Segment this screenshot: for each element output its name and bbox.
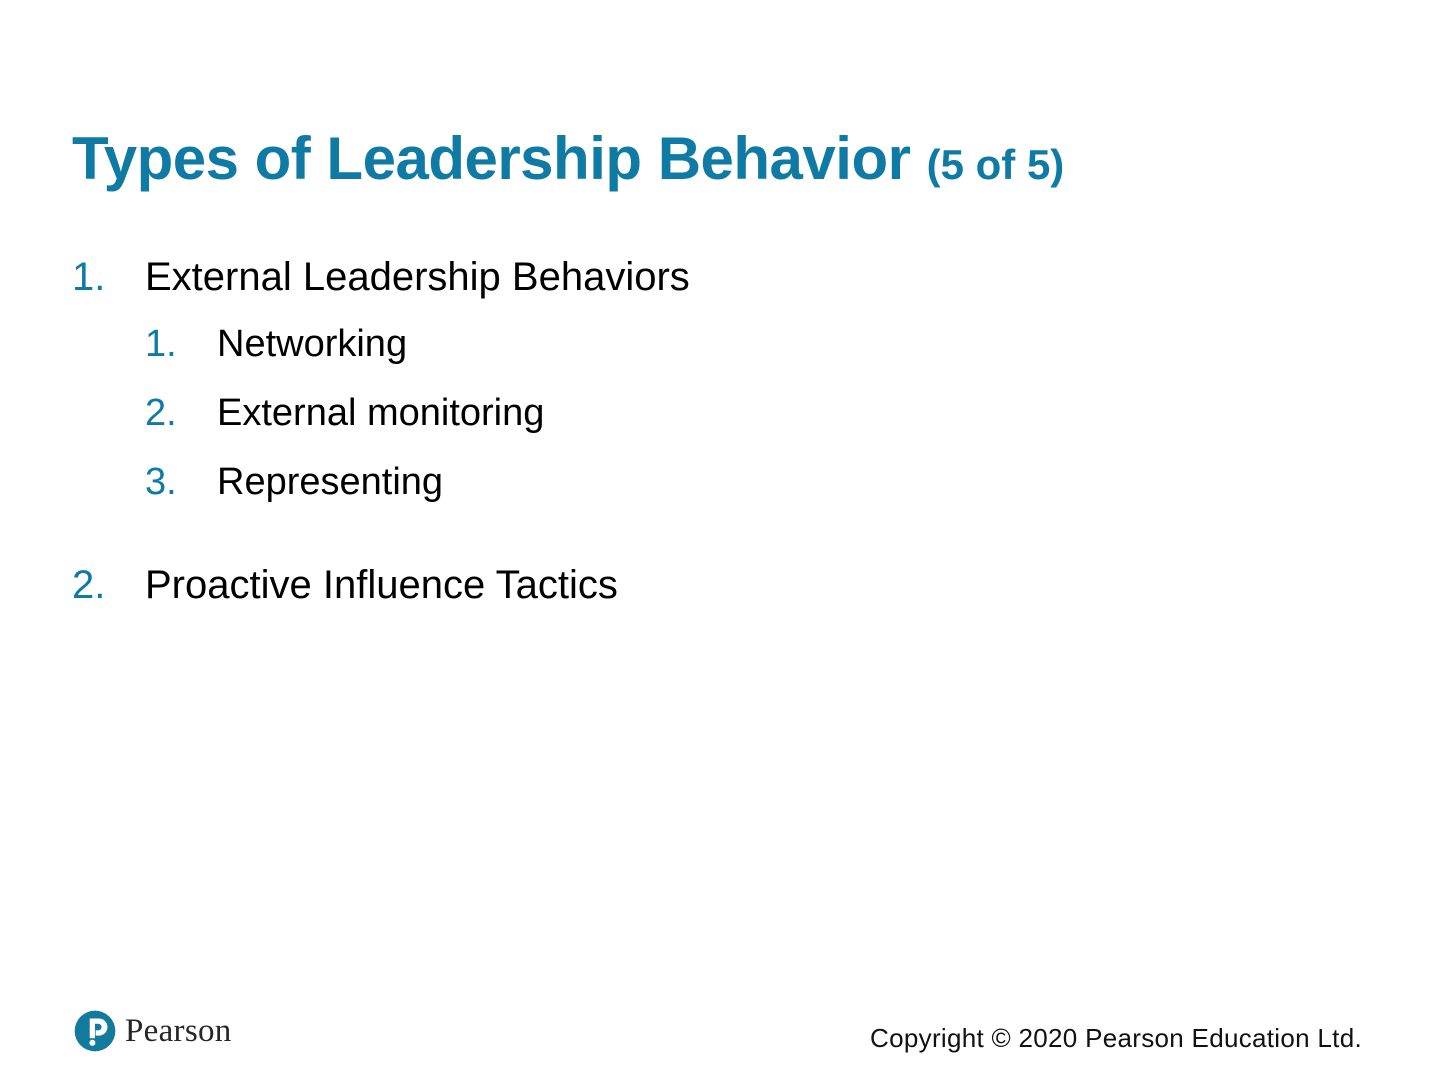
list-item-marker: 1. (145, 320, 217, 368)
content-list: 1. External Leadership Behaviors 1. Netw… (72, 252, 1352, 610)
sub-list: 1. Networking 2. External monitoring 3. … (72, 320, 1352, 506)
list-item-marker: 3. (145, 458, 217, 506)
list-item-label: External Leadership Behaviors (145, 252, 690, 302)
list-item: 3. Representing (72, 458, 1352, 506)
pearson-logo-icon (74, 1010, 116, 1052)
list-item: 2. External monitoring (72, 389, 1352, 437)
list-item-label: Representing (217, 458, 443, 506)
slide: Types of Leadership Behavior (5 of 5) 1.… (0, 0, 1440, 1080)
pearson-wordmark: Pearson (125, 1015, 232, 1048)
page-title-main: Types of Leadership Behavior (72, 125, 910, 192)
list-item: 1. Networking (72, 320, 1352, 368)
page-title-counter: (5 of 5) (927, 141, 1065, 188)
list-item: 1. External Leadership Behaviors (72, 252, 1352, 302)
page-title: Types of Leadership Behavior (5 of 5) (72, 126, 1372, 198)
list-item-label: Networking (217, 320, 407, 368)
list-item-marker: 2. (72, 560, 145, 610)
copyright-notice: Copyright © 2020 Pearson Education Ltd. (870, 1022, 1362, 1054)
list-item-marker: 2. (145, 389, 217, 437)
list-item-label: External monitoring (217, 389, 544, 437)
list-item-label: Proactive Influence Tactics (145, 560, 618, 610)
list-item: 2. Proactive Influence Tactics (72, 560, 1352, 610)
pearson-logo: Pearson (74, 1010, 232, 1052)
list-item-marker: 1. (72, 252, 145, 302)
list-spacer (72, 506, 1352, 542)
